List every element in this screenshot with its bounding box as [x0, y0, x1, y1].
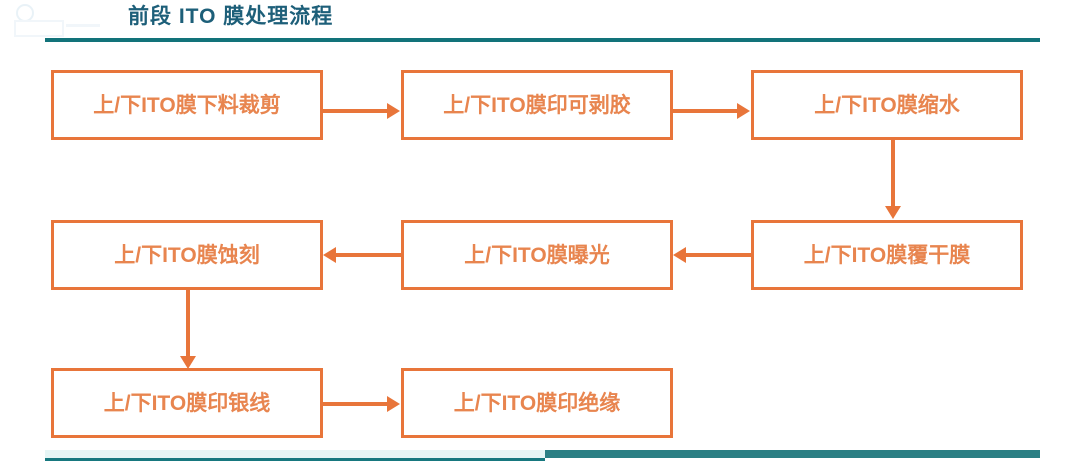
watermark-logo [14, 4, 106, 34]
connector-n2-n3 [673, 103, 751, 119]
flow-node-8[interactable]: 上/下ITO膜印绝缘 [401, 368, 673, 438]
flowchart-canvas: 前段 ITO 膜处理流程 上/下ITO膜下料裁剪 上/下ITO膜印可剥胶 上/下… [0, 0, 1070, 465]
flow-node-label: 上/下ITO膜下料裁剪 [93, 95, 280, 116]
connector-shaft [186, 290, 190, 358]
flow-node-label: 上/下ITO膜覆干膜 [804, 245, 970, 266]
flow-node-4[interactable]: 上/下ITO膜覆干膜 [751, 220, 1023, 290]
page-title: 前段 ITO 膜处理流程 [128, 2, 333, 32]
flow-node-2[interactable]: 上/下ITO膜印可剥胶 [401, 70, 673, 140]
connector-n3-n4 [885, 140, 901, 220]
flow-node-label: 上/下ITO膜缩水 [814, 95, 959, 116]
arrow-down-icon [885, 206, 901, 219]
watermark-underline-icon [66, 24, 100, 27]
flow-node-3[interactable]: 上/下ITO膜缩水 [751, 70, 1023, 140]
bottom-divider [45, 450, 1040, 458]
arrow-right-icon [387, 103, 400, 119]
flow-node-label: 上/下ITO膜印银线 [104, 393, 270, 414]
connector-n7-n8 [323, 396, 401, 412]
flow-node-5[interactable]: 上/下ITO膜曝光 [401, 220, 673, 290]
arrow-left-icon [673, 247, 686, 263]
connector-n4-n5 [673, 247, 751, 263]
flow-node-label: 上/下ITO膜印可剥胶 [443, 95, 630, 116]
flow-node-label: 上/下ITO膜蚀刻 [114, 245, 259, 266]
connector-shaft [685, 253, 751, 257]
arrow-right-icon [737, 103, 750, 119]
connector-shaft [891, 140, 895, 208]
flow-node-1[interactable]: 上/下ITO膜下料裁剪 [51, 70, 323, 140]
connector-shaft [335, 253, 401, 257]
top-divider [45, 38, 1040, 42]
flow-node-label: 上/下ITO膜印绝缘 [454, 393, 620, 414]
connector-shaft [673, 109, 739, 113]
watermark-bar-icon [14, 20, 64, 37]
flow-node-label: 上/下ITO膜曝光 [464, 245, 609, 266]
arrow-left-icon [323, 247, 336, 263]
arrow-right-icon [387, 396, 400, 412]
connector-shaft [323, 402, 389, 406]
connector-n6-n7 [180, 290, 196, 370]
bottom-divider-dark-segment [545, 450, 1040, 458]
connector-n1-n2 [323, 103, 401, 119]
bottom-divider-light-segment [45, 450, 545, 461]
flow-node-6[interactable]: 上/下ITO膜蚀刻 [51, 220, 323, 290]
connector-n5-n6 [323, 247, 401, 263]
flow-node-7[interactable]: 上/下ITO膜印银线 [51, 368, 323, 438]
connector-shaft [323, 109, 389, 113]
